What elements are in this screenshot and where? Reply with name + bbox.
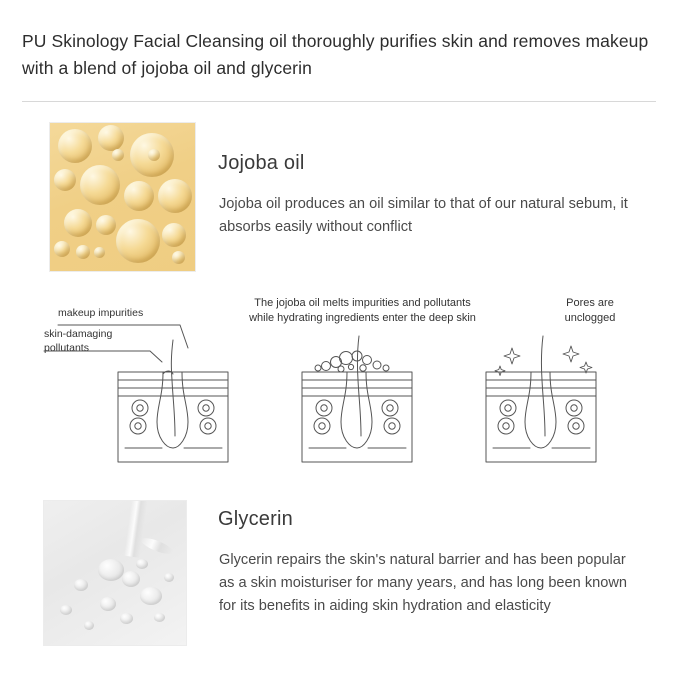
skin-panel-1: [118, 340, 228, 462]
jojoba-title: Jojoba oil: [218, 152, 305, 175]
glycerin-description: Glycerin repairs the skin's natural barr…: [219, 549, 644, 618]
product-info-page: PU Skinology Facial Cleansing oil thorou…: [0, 0, 679, 679]
skin-cross-section-diagram: [30, 296, 650, 466]
glycerin-image: [43, 500, 187, 646]
header-divider: [22, 101, 656, 102]
skin-panel-2: [302, 336, 412, 462]
sparkle-icons: [495, 346, 592, 376]
skin-panel-3: [486, 336, 596, 462]
glycerin-title: Glycerin: [218, 508, 293, 531]
jojoba-oil-image: [49, 122, 196, 272]
page-headline: PU Skinology Facial Cleansing oil thorou…: [22, 28, 658, 82]
label-leader-lines: [44, 325, 188, 362]
jojoba-description: Jojoba oil produces an oil similar to th…: [219, 193, 639, 239]
